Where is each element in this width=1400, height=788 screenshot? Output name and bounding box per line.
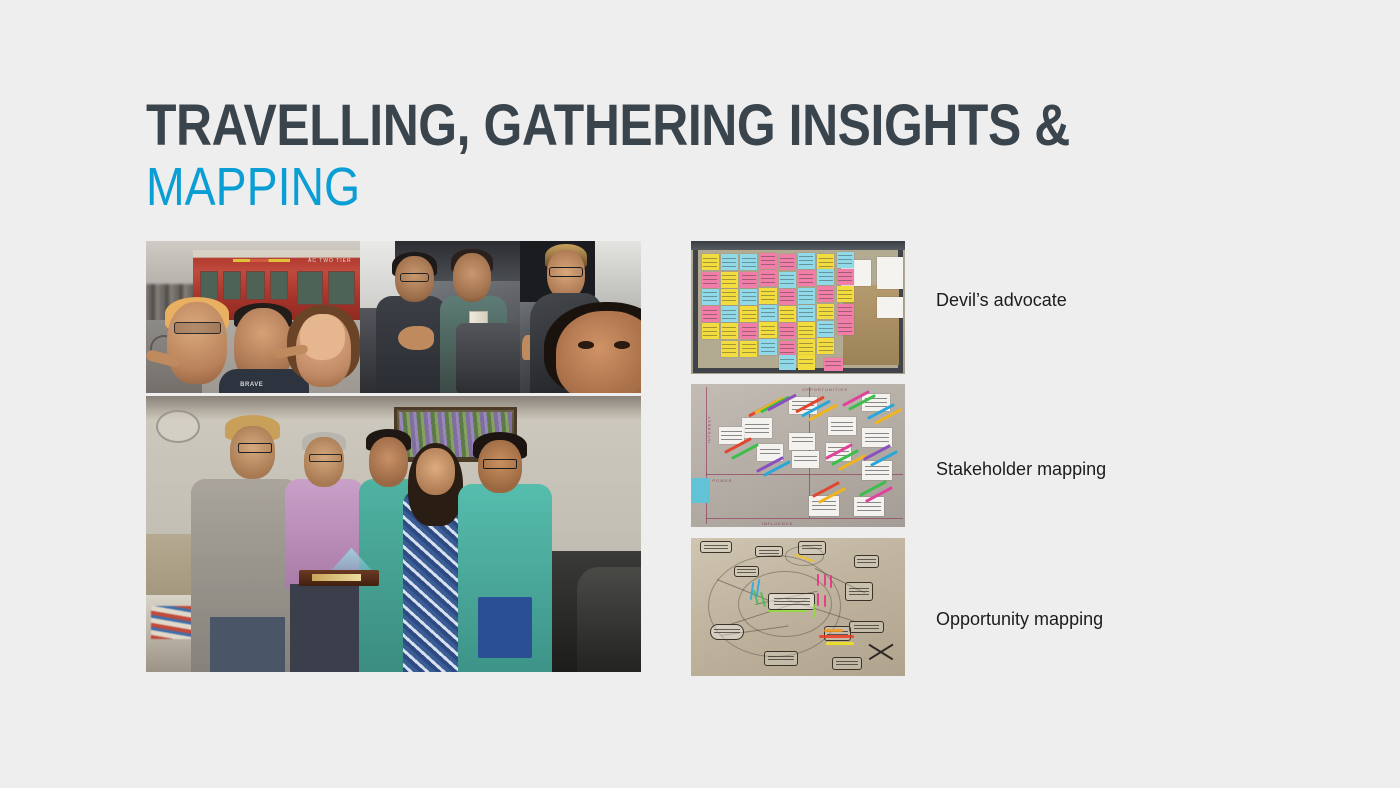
photo-van-interior-two-members	[360, 241, 520, 393]
list-item-stakeholder-mapping: INFLUENCE OPPORTUNITIES INTEREST POWER	[691, 384, 905, 527]
photo-row-top: AC TWO TIER BRAVE	[146, 241, 641, 393]
right-photo-column: Devil’s advocate INFLUENCE OPPORTUNITIES…	[691, 241, 905, 676]
photo-train-platform-selfie: AC TWO TIER BRAVE	[146, 241, 360, 393]
list-item-devils-advocate: Devil’s advocate	[691, 241, 905, 374]
list-item-opportunity-mapping: Opportunity mapping	[691, 538, 905, 676]
label-devils-advocate: Devil’s advocate	[936, 290, 1067, 311]
slide-title: TRAVELLING, GATHERING INSIGHTS & MAPPING	[146, 98, 1220, 215]
photo-office-group-award	[146, 396, 641, 672]
photo-opportunity-map	[691, 538, 905, 676]
left-photo-gallery: AC TWO TIER BRAVE	[146, 241, 641, 672]
photo-sticky-note-board	[691, 241, 905, 374]
label-stakeholder-mapping: Stakeholder mapping	[936, 459, 1106, 480]
photo-car-selfie-close-up	[520, 241, 641, 393]
photo-stakeholder-map: INFLUENCE OPPORTUNITIES INTEREST POWER	[691, 384, 905, 527]
label-opportunity-mapping: Opportunity mapping	[936, 609, 1103, 630]
train-coach-label: AC TWO TIER	[308, 258, 352, 264]
page-title-line-1: TRAVELLING, GATHERING INSIGHTS &	[146, 98, 1070, 154]
page-title-line-2: MAPPING	[146, 159, 1070, 215]
